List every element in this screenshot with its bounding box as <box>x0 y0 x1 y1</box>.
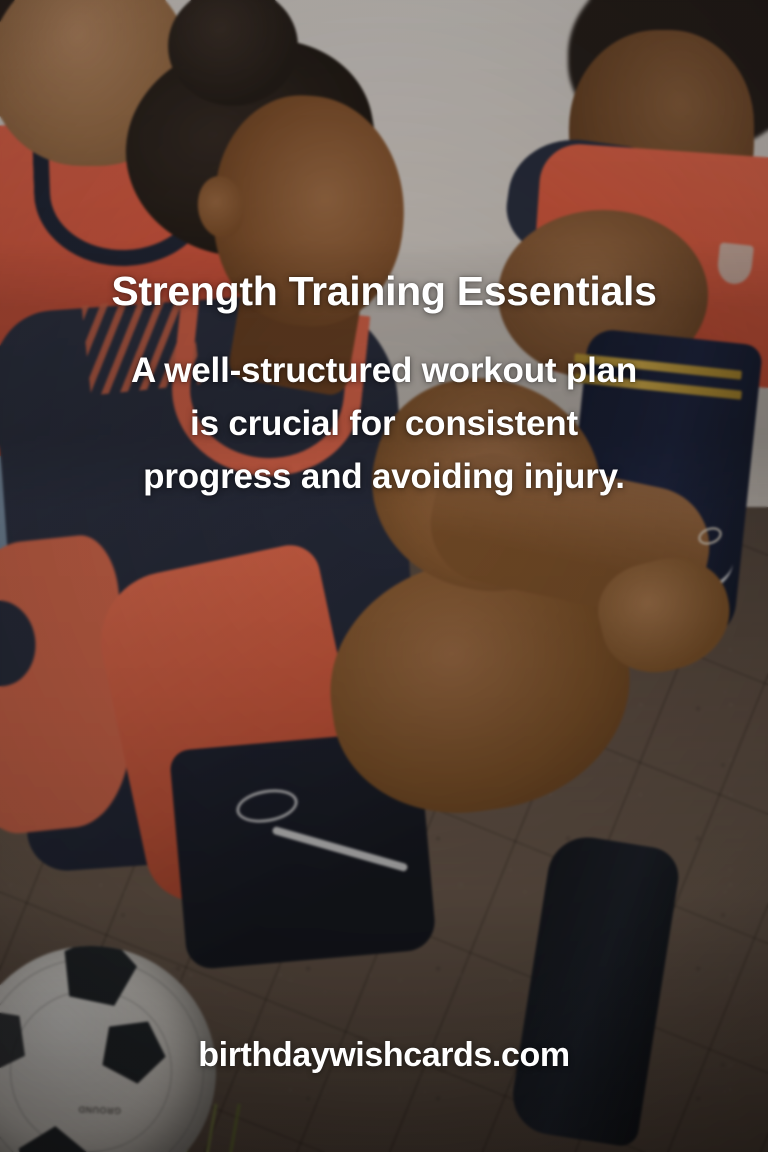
subtitle-line-2: is crucial for consistent <box>40 397 728 450</box>
subtitle: A well-structured workout plan is crucia… <box>0 344 768 504</box>
page-title: Strength Training Essentials <box>0 270 768 313</box>
subtitle-line-1: A well-structured workout plan <box>40 344 728 397</box>
text-overlay: Strength Training Essentials A well-stru… <box>0 0 768 1152</box>
website-watermark: birthdaywishcards.com <box>0 1036 768 1075</box>
quote-card: GROUND Strength Training Essentials A we… <box>0 0 768 1152</box>
subtitle-line-3: progress and avoiding injury. <box>40 450 728 503</box>
